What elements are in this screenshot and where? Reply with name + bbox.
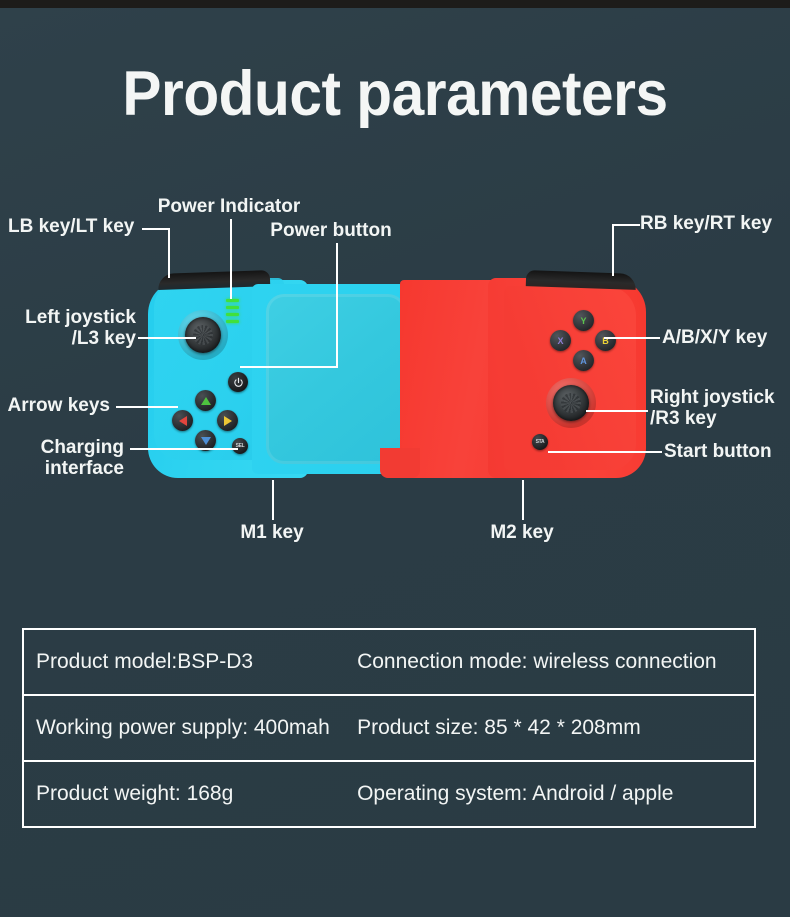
abxy-button-cluster[interactable]: Y X B A xyxy=(548,310,620,372)
arrow-keys-dpad[interactable] xyxy=(170,390,242,452)
leader-power-button-v xyxy=(336,243,338,368)
dpad-right-button[interactable] xyxy=(217,410,238,431)
start-button[interactable]: STA xyxy=(532,434,548,450)
dpad-left-button[interactable] xyxy=(172,410,193,431)
power-icon xyxy=(233,377,244,388)
leader-arrow-keys xyxy=(116,406,178,408)
leader-m1 xyxy=(272,480,274,520)
left-joystick[interactable] xyxy=(178,310,228,360)
right-joystick-cap xyxy=(553,385,589,421)
leader-m2 xyxy=(522,480,524,520)
leader-rb-rt-h xyxy=(612,224,640,226)
spec-product-model: Product model:BSP-D3 xyxy=(23,629,345,695)
product-parameters-page: Product parameters xyxy=(0,0,790,917)
leader-lb-lt-h xyxy=(142,228,170,230)
led-bar-3 xyxy=(226,313,239,316)
leader-rb-rt-v xyxy=(612,224,614,276)
callout-label-start-button: Start button xyxy=(664,441,772,462)
leader-left-joystick xyxy=(138,337,196,339)
power-button[interactable] xyxy=(228,372,248,392)
led-bar-1 xyxy=(226,299,239,302)
callout-label-lb-lt: LB key/LT key xyxy=(8,216,134,237)
triangle-down-icon xyxy=(201,437,211,445)
leader-lb-lt-v xyxy=(168,228,170,278)
spec-product-weight: Product weight: 168g xyxy=(23,761,345,827)
spec-connection-mode: Connection mode: wireless connection xyxy=(345,629,755,695)
spec-power-supply: Working power supply: 400mah xyxy=(23,695,345,761)
table-row: Product weight: 168g Operating system: A… xyxy=(23,761,755,827)
spec-product-size: Product size: 85 * 42 * 208mm xyxy=(345,695,755,761)
leader-abxy xyxy=(604,337,660,339)
leader-charging-interface xyxy=(130,448,238,450)
power-indicator-leds xyxy=(226,299,239,323)
leader-power-indicator xyxy=(230,219,232,299)
dpad-up-button[interactable] xyxy=(195,390,216,411)
specifications-table: Product model:BSP-D3 Connection mode: wi… xyxy=(22,628,756,828)
callout-label-power-indicator: Power Indicator xyxy=(148,196,310,217)
y-button[interactable]: Y xyxy=(573,310,594,331)
a-button[interactable]: A xyxy=(573,350,594,371)
triangle-left-icon xyxy=(179,416,187,426)
leader-right-joystick xyxy=(586,410,648,412)
callout-label-charging-interface: Charging interface xyxy=(0,437,124,480)
triangle-up-icon xyxy=(201,397,211,405)
spec-operating-system: Operating system: Android / apple xyxy=(345,761,755,827)
leader-start-button xyxy=(548,451,662,453)
callout-label-abxy: A/B/X/Y key xyxy=(662,327,767,348)
callout-label-m2: M2 key xyxy=(462,522,582,543)
diagram-stage: SEL STA Y X B A LB key/LT key Power Indi… xyxy=(0,0,790,600)
triangle-right-icon xyxy=(224,416,232,426)
b-button[interactable]: B xyxy=(595,330,616,351)
left-joystick-cap xyxy=(185,317,221,353)
select-button[interactable]: SEL xyxy=(232,438,248,454)
callout-label-power-button: Power button xyxy=(250,220,412,241)
leader-power-button-h xyxy=(240,366,338,368)
callout-label-m1: M1 key xyxy=(212,522,332,543)
table-row: Working power supply: 400mah Product siz… xyxy=(23,695,755,761)
led-bar-2 xyxy=(226,306,239,309)
callout-label-right-joystick: Right joystick /R3 key xyxy=(650,387,775,430)
x-button[interactable]: X xyxy=(550,330,571,351)
callout-label-rb-rt: RB key/RT key xyxy=(640,213,772,234)
callout-label-left-joystick: Left joystick /L3 key xyxy=(0,307,136,350)
table-row: Product model:BSP-D3 Connection mode: wi… xyxy=(23,629,755,695)
right-joystick[interactable] xyxy=(546,378,596,428)
led-bar-4 xyxy=(226,320,239,323)
controller-red-plate-notch xyxy=(380,448,420,478)
callout-label-arrow-keys: Arrow keys xyxy=(0,395,110,416)
